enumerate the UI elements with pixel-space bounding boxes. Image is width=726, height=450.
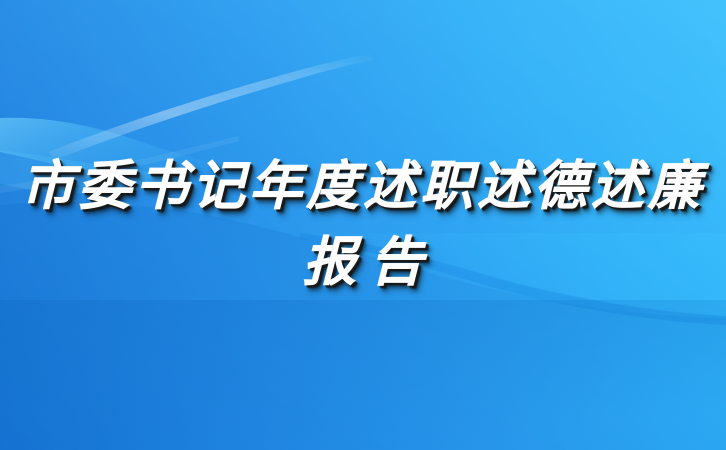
banner-title-line-1: 市委书记年度述职述德述廉 [0, 148, 726, 224]
banner-title-line-2: 报告 [0, 224, 726, 300]
banner-title: 市委书记年度述职述德述廉 报告 [0, 148, 726, 300]
title-banner: 市委书记年度述职述德述廉 报告 [0, 0, 726, 450]
